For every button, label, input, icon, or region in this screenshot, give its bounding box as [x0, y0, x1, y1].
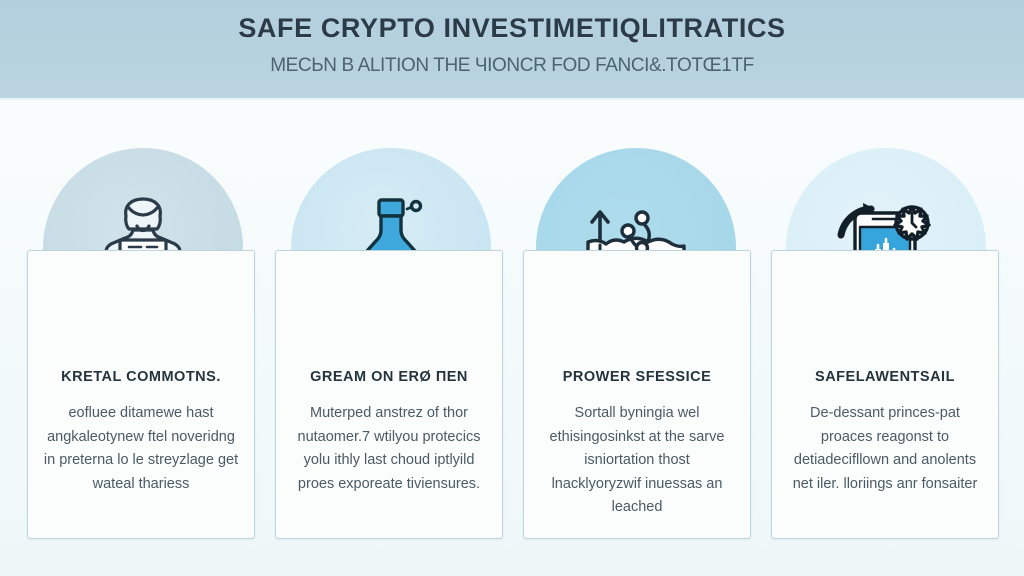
page-subtitle: MECЬN B ALITION THE ЧIONCR FOD FANCI&.TO…: [0, 55, 1024, 77]
feature-card-2[interactable]: GREAM ON ERØ ПEN Muterped anstrez of tho…: [275, 250, 503, 539]
card-title: KRETAL COMMOTNS.: [42, 369, 240, 386]
card-title: GREAM ON ERØ ПEN: [290, 369, 488, 386]
card-title: SAFELAWENTSAIL: [786, 369, 984, 386]
cards-row: KRETAL COMMOTNS. eofluee ditamewe hast a…: [27, 250, 999, 539]
card-body: eofluee ditamewe hast angkaleotynew ftel…: [42, 402, 240, 496]
feature-card-1[interactable]: KRETAL COMMOTNS. eofluee ditamewe hast a…: [27, 250, 255, 539]
card-body: Muterped anstrez of thor nutaomer.7 wtil…: [290, 402, 488, 496]
card-title: PROWER SFESSICE: [538, 369, 736, 386]
feature-card-4[interactable]: SAFELAWENTSAIL De-dessant princes-pat pr…: [771, 250, 999, 539]
card-body: De-dessant princes-pat proaces reagonst …: [786, 402, 984, 496]
header-band: SAFE CRYPTO INVESTIMETIQLITRATICS MECЬN …: [0, 0, 1024, 100]
card-body: Sortall byningia wel ethisingosinkst at …: [538, 402, 736, 519]
infographic-canvas: SAFE CRYPTO INVESTIMETIQLITRATICS MECЬN …: [0, 0, 1024, 576]
feature-card-3[interactable]: PROWER SFESSICE Sortall byningia wel eth…: [523, 250, 751, 539]
page-title: SAFE CRYPTO INVESTIMETIQLITRATICS: [0, 13, 1024, 44]
